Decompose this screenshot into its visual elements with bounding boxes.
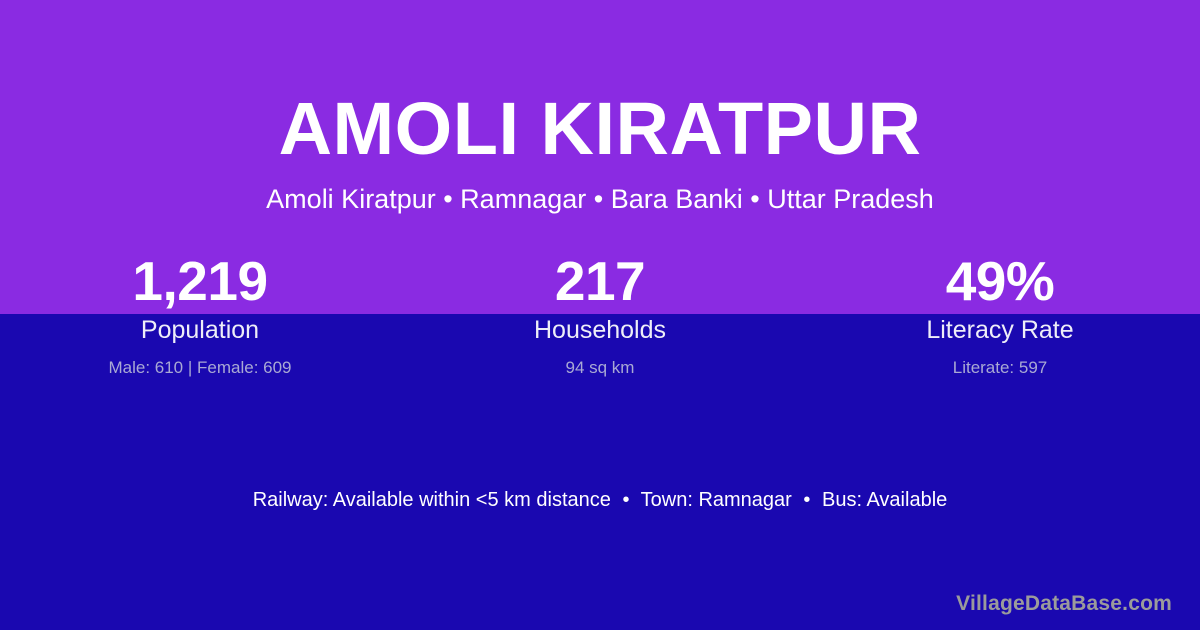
stat-population: 1,219 Population Male: 610 | Female: 609 bbox=[0, 248, 400, 380]
bullet-separator-icon: • bbox=[797, 489, 816, 511]
stat-literacy-rate: 49% Literacy Rate Literate: 597 bbox=[800, 248, 1200, 380]
stat-value: 1,219 bbox=[0, 248, 400, 314]
card-content: AMOLI KIRATPUR Amoli Kiratpur • Ramnagar… bbox=[0, 0, 1200, 630]
amenities-line: Railway: Available within <5 km distance… bbox=[0, 486, 1200, 514]
stat-label: Literacy Rate bbox=[800, 314, 1200, 346]
breadcrumb: Amoli Kiratpur • Ramnagar • Bara Banki •… bbox=[0, 182, 1200, 216]
watermark-brand: VillageDataBase.com bbox=[956, 590, 1172, 618]
stat-label: Households bbox=[400, 314, 800, 346]
page-title: AMOLI KIRATPUR bbox=[0, 86, 1200, 172]
town-info: Town: Ramnagar bbox=[641, 489, 792, 511]
stat-sublabel: Literate: 597 bbox=[800, 356, 1200, 380]
bus-info: Bus: Available bbox=[822, 489, 947, 511]
stat-sublabel: Male: 610 | Female: 609 bbox=[0, 356, 400, 380]
stats-row: 1,219 Population Male: 610 | Female: 609… bbox=[0, 248, 1200, 380]
railway-info: Railway: Available within <5 km distance bbox=[253, 489, 611, 511]
stat-value: 49% bbox=[800, 248, 1200, 314]
stat-households: 217 Households 94 sq km bbox=[400, 248, 800, 380]
bullet-separator-icon: • bbox=[616, 489, 635, 511]
stat-value: 217 bbox=[400, 248, 800, 314]
stat-label: Population bbox=[0, 314, 400, 346]
stat-sublabel: 94 sq km bbox=[400, 356, 800, 380]
village-info-card: AMOLI KIRATPUR Amoli Kiratpur • Ramnagar… bbox=[0, 0, 1200, 630]
